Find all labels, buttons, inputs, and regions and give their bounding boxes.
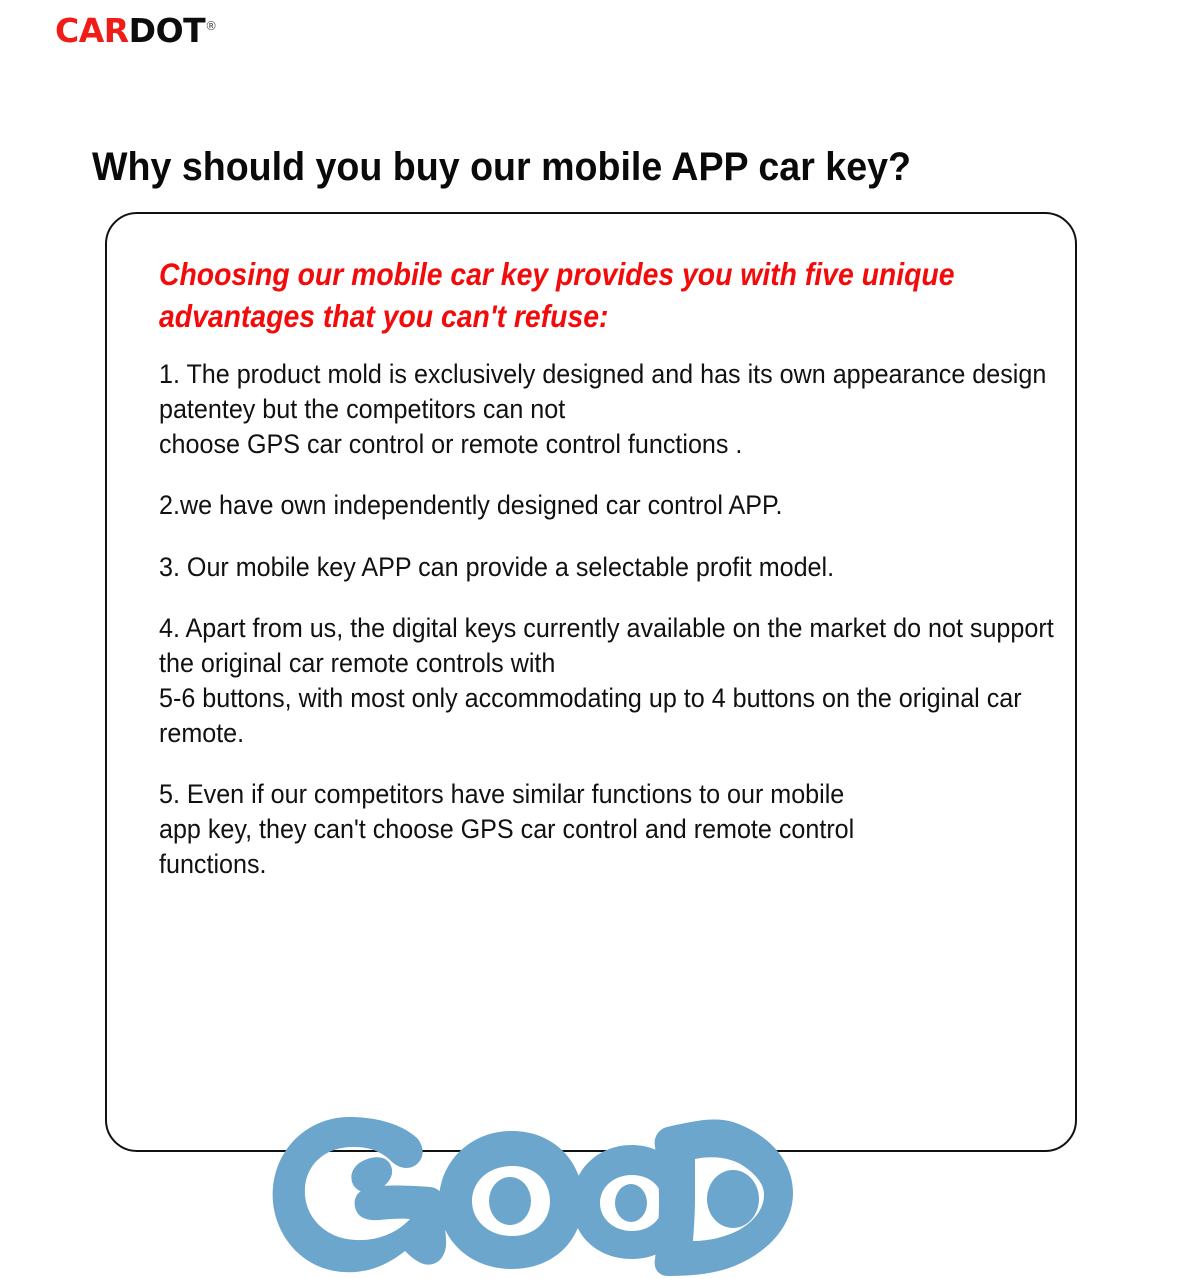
advantage-list: 1. The product mold is exclusively desig… [159, 357, 1053, 882]
list-item: 4. Apart from us, the digital keys curre… [159, 611, 1094, 751]
list-item: 2.we have own independently designed car… [159, 488, 1094, 523]
list-item: 1. The product mold is exclusively desig… [159, 357, 1094, 462]
registered-trademark-icon: ® [205, 19, 217, 33]
card-inner: Choosing our mobile car key provides you… [159, 254, 1053, 882]
brand-logo: CARDOT® [55, 14, 217, 47]
brand-logo-dot-text: DOT [129, 11, 205, 50]
page-title: Why should you buy our mobile APP car ke… [92, 145, 911, 189]
good-artwork-icon [267, 1109, 797, 1279]
brand-logo-car-text: CAR [55, 11, 129, 50]
list-item: 3. Our mobile key APP can provide a sele… [159, 550, 1094, 585]
list-item: 5. Even if our competitors have similar … [159, 777, 1094, 882]
poster-page: CARDOT® Why should you buy our mobile AP… [0, 0, 1200, 1200]
intro-heading: Choosing our mobile car key provides you… [159, 254, 1086, 337]
content-card: Choosing our mobile car key provides you… [105, 212, 1077, 1152]
